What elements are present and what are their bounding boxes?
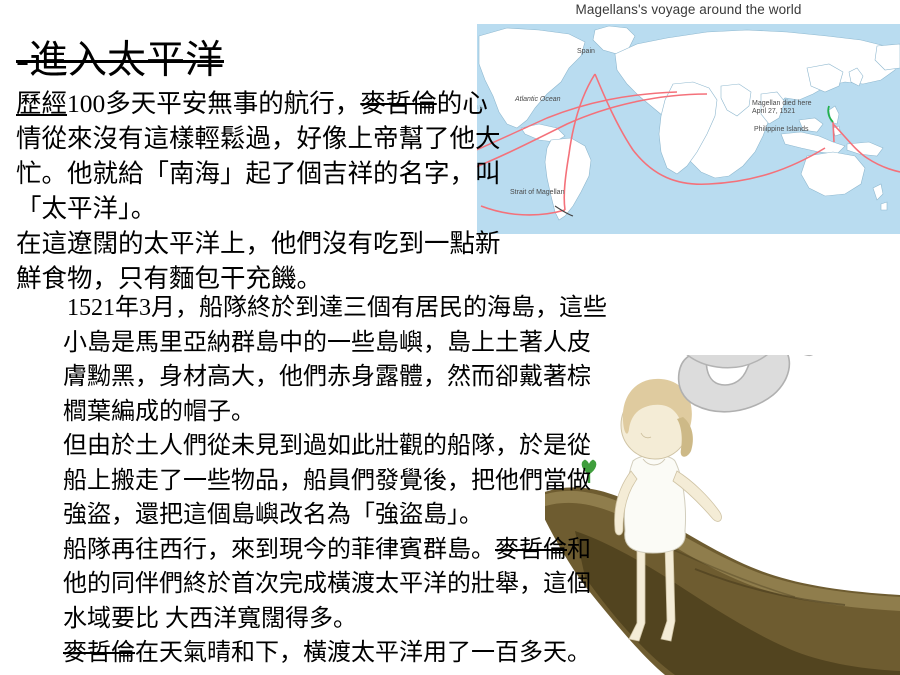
map-title: Magellans's voyage around the world — [477, 2, 900, 17]
death-label-line2: April 27, 1521 — [752, 108, 812, 116]
body-line-2: 小島是馬里亞納群島中的一些島嶼，島上土著人皮 — [63, 326, 763, 361]
body-line-4: 櫚葉編成的帽子。 — [63, 395, 763, 430]
map-label-philippine-islands: Philippine Islands — [754, 126, 808, 133]
body-line-7: 強盜，還把這個島嶼改名為「強盜島」。 — [63, 498, 763, 533]
new-zealand-shape — [873, 184, 883, 200]
body-line-6: 船上搬走了一些物品，船員們發覺後，把他們當做 — [63, 464, 763, 499]
body-line-11: 麥哲倫在天氣晴和下，橫渡太平洋用了一百多天。 — [63, 636, 763, 671]
map-label-spain: Spain — [577, 48, 595, 55]
map-label-magellan-died-here: Magellan died here April 27, 1521 — [752, 100, 812, 116]
map-label-strait-of-magellan: Strait of Magellan — [510, 189, 564, 196]
map-label-atlantic-ocean: Atlantic Ocean — [515, 96, 561, 103]
magellan-name-struck: 麥哲倫 — [495, 537, 567, 563]
magellan-name-struck: 麥哲倫 — [63, 640, 135, 666]
body-paragraph: 1521年3月，船隊終於到達三個有居民的海島，這些 小島是馬里亞納群島中的一些島… — [63, 291, 763, 671]
australia-shape — [801, 152, 865, 196]
intro-paragraph: 歷經100多天平安無事的航行，麥哲倫的心 情從來沒有這樣輕鬆過，好像上帝幫了他大… — [16, 86, 576, 296]
body-line-5: 但由於土人們從未見到過如此壯觀的船隊，於是從 — [63, 429, 763, 464]
intro-line-5: 在這遼闊的太平洋上，他們沒有吃到一點新 — [16, 226, 576, 261]
intro-line-2: 情從來沒有這樣輕鬆過，好像上帝幫了他大 — [16, 121, 576, 156]
intro-line-4: 「太平洋」。 — [16, 191, 576, 226]
body-line-9: 他的同伴們終於首次完成橫渡太平洋的壯舉，這個 — [63, 567, 763, 602]
intro-line-1: 歷經100多天平安無事的航行，麥哲倫的心 — [16, 86, 576, 121]
new-zealand-south-shape — [881, 202, 887, 210]
magellan-name-struck: 麥哲倫 — [360, 89, 437, 118]
page-title: -進入太平洋 — [16, 39, 224, 83]
body-line-1: 1521年3月，船隊終於到達三個有居民的海島，這些 — [63, 291, 763, 326]
slide-canvas: Magellans's voyage around the world — [0, 0, 900, 675]
philippines-shape — [829, 106, 839, 124]
intro-line-3: 忙。他就給「南海」起了個吉祥的名字，叫 — [16, 156, 576, 191]
map-label-pacific-ocean: Pacific Ocean — [477, 104, 482, 111]
body-line-10: 水域要比 大西洋寬闊得多。 — [63, 602, 763, 637]
route-philippines-vertical — [833, 122, 834, 142]
death-label-line1: Magellan died here — [752, 100, 812, 108]
intro-underlined-lead: 歷經 — [16, 89, 67, 118]
body-line-3: 膚黝黑，身材高大，他們赤身露體，然而卻戴著棕 — [63, 360, 763, 395]
body-line-8: 船隊再往西行，來到現今的菲律賓群島。麥哲倫和 — [63, 533, 763, 568]
